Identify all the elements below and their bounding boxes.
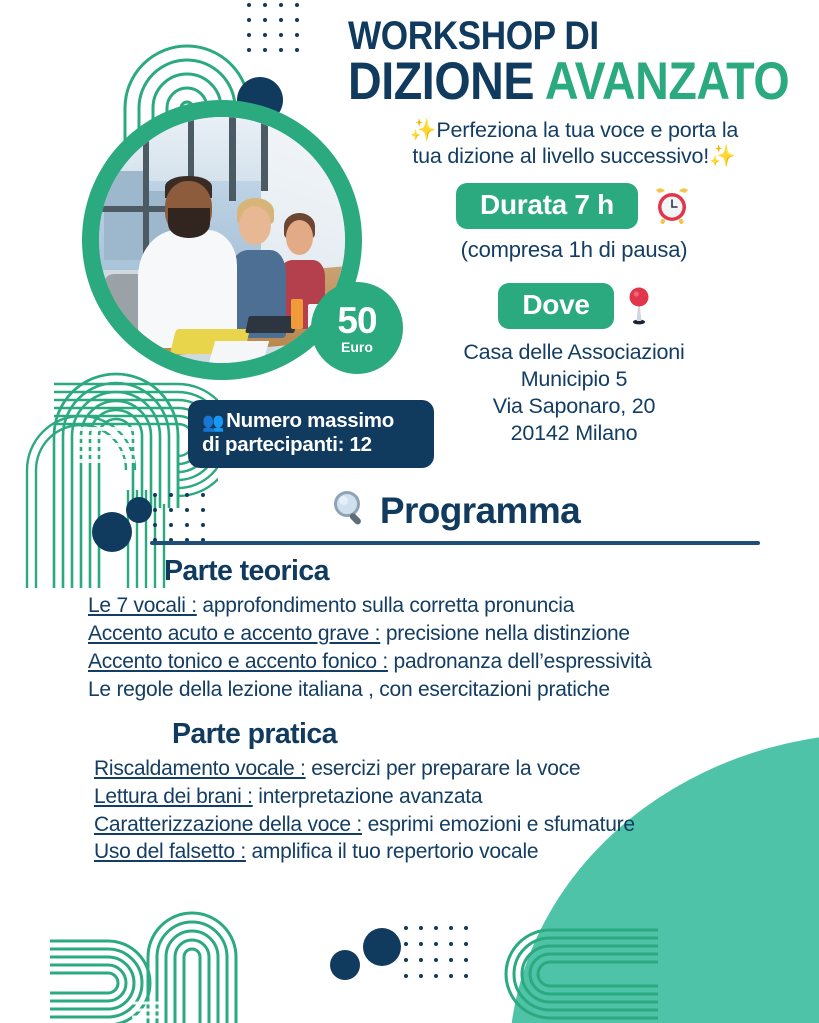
price-amount: 50: [337, 302, 376, 339]
section-title-teorica: Parte teorica: [164, 555, 760, 588]
price-badge: 50 Euro: [311, 282, 403, 374]
list-item: Accento tonico e accento fonico : padron…: [88, 648, 760, 676]
title-line-2: DIZIONE AVANZATO: [348, 57, 746, 106]
programma-title: Programma: [380, 490, 580, 532]
item-desc: esercizi per preparare la voce: [306, 757, 581, 780]
section-list-pratica: Riscaldamento vocale : esercizi per prep…: [150, 755, 760, 867]
people-icon: 👥: [202, 412, 224, 432]
address-line-2: Municipio 5: [348, 366, 800, 393]
poster-title: WORKSHOP DI DIZIONE AVANZATO: [348, 18, 800, 106]
tagline-line-1: Perfeziona la tua voce e porta la: [436, 118, 738, 142]
programma-heading-row: Programma: [150, 488, 760, 533]
programma-divider: [150, 541, 760, 545]
section-parte-pratica: Parte pratica Riscaldamento vocale : ese…: [150, 718, 760, 867]
list-item: Le regole della lezione italiana , con e…: [88, 676, 760, 704]
list-item: Uso del falsetto : amplifica il tuo repe…: [94, 838, 760, 866]
dot-grid-bottom: [404, 926, 479, 990]
navy-dot-bottom-small: [330, 950, 360, 980]
participants-line-2: di partecipanti: 12: [202, 433, 372, 456]
participants-badge: 👥Numero massimo di partecipanti: 12: [188, 400, 434, 468]
section-title-pratica: Parte pratica: [172, 718, 760, 751]
hatch-overlay-left: [75, 425, 135, 465]
item-term: Accento tonico e accento fonico :: [88, 650, 388, 673]
sparkle-left-icon: ✨: [410, 118, 437, 142]
participants-line-1: Numero massimo: [226, 409, 394, 432]
list-item: Riscaldamento vocale : esercizi per prep…: [94, 755, 760, 783]
duration-badge: Durata 7 h: [456, 183, 638, 229]
tagline-line-2: tua dizione al livello successivo!: [412, 144, 709, 168]
section-list-teorica: Le 7 vocali : approfondimento sulla corr…: [150, 592, 760, 704]
hero-photo: [99, 117, 345, 363]
duration-note: (compresa 1h di pausa): [348, 237, 800, 263]
item-term: Caratterizzazione della voce :: [94, 813, 362, 836]
list-item: Caratterizzazione della voce : esprimi e…: [94, 811, 760, 839]
title-word-dizione: DIZIONE: [348, 52, 534, 111]
list-item: Lettura dei brani : interpretazione avan…: [94, 783, 760, 811]
magnifying-glass-icon: [330, 488, 370, 533]
hatch-overlay-bottom-left: [132, 1000, 160, 1022]
alarm-clock-icon: [652, 186, 692, 226]
where-row: Dove: [348, 283, 800, 329]
map-pin-icon: [628, 286, 650, 326]
price-currency: Euro: [341, 340, 373, 354]
title-word-avanzato: AVANZATO: [545, 52, 789, 111]
list-item: Le 7 vocali : approfondimento sulla corr…: [88, 592, 760, 620]
arch-lines-bottom-right-icon: [488, 920, 678, 1023]
item-term: Uso del falsetto :: [94, 840, 246, 863]
item-desc: precisione nella distinzione: [380, 622, 630, 645]
item-desc: approfondimento sulla corretta pronuncia: [197, 594, 574, 617]
section-parte-teorica: Parte teorica Le 7 vocali : approfondime…: [150, 555, 760, 704]
item-term: Le 7 vocali :: [88, 594, 197, 617]
programma-section: Programma Parte teorica Le 7 vocali : ap…: [150, 488, 760, 866]
hero-photo-illustration: [99, 117, 345, 363]
item-term: Accento acuto e accento grave :: [88, 622, 380, 645]
poster-root: 50 Euro WORKSHOP DI DIZIONE AVANZATO ✨Pe…: [0, 0, 819, 1023]
item-term: Lettura dei brani :: [94, 785, 253, 808]
navy-dot-left-large: [92, 512, 132, 552]
duration-row: Durata 7 h: [348, 183, 800, 229]
item-desc: amplifica il tuo repertorio vocale: [246, 840, 538, 863]
item-desc: esprimi emozioni e sfumature: [362, 813, 635, 836]
navy-dot-left-small: [126, 497, 152, 523]
item-term: Riscaldamento vocale :: [94, 757, 306, 780]
arch-lines-bottom-left-icon: [30, 905, 300, 1023]
item-desc: padronanza dell’espressività: [388, 650, 652, 673]
navy-dot-bottom-large: [363, 928, 401, 966]
sparkle-right-icon: ✨: [709, 144, 736, 168]
tagline: ✨Perfeziona la tua voce e porta la tua d…: [348, 118, 800, 169]
title-line-1: WORKSHOP DI: [348, 18, 746, 55]
item-term: Le regole della lezione italiana , con e…: [88, 678, 610, 701]
item-desc: interpretazione avanzata: [253, 785, 483, 808]
header-column: WORKSHOP DI DIZIONE AVANZATO ✨Perfeziona…: [348, 18, 800, 447]
where-badge: Dove: [498, 283, 613, 329]
list-item: Accento acuto e accento grave : precisio…: [88, 620, 760, 648]
address-line-1: Casa delle Associazioni: [348, 339, 800, 366]
dot-grid-top: [247, 3, 311, 63]
